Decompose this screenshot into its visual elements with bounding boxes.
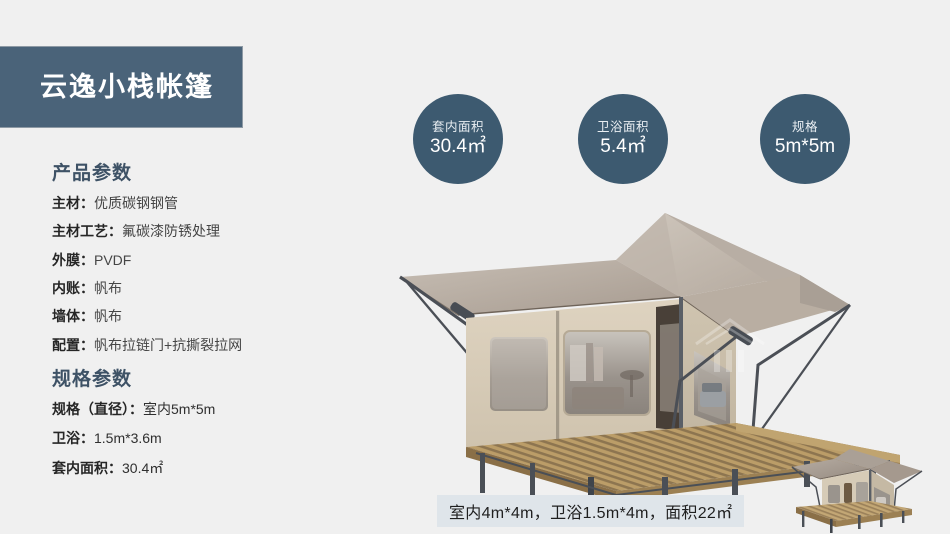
- spec-value: 帆布: [94, 308, 122, 324]
- spec-value: PVDF: [94, 252, 131, 268]
- spec-value: 室内5m*5m: [143, 401, 215, 417]
- spec-row: 套内面积：30.4㎡: [52, 461, 352, 476]
- spec-value: 优质碳钢钢管: [94, 195, 178, 211]
- spec-key: 规格（直径）：: [52, 401, 143, 417]
- caption-text: 室内4m*4m，卫浴1.5m*4m，面积22㎡: [449, 499, 732, 523]
- spec-row: 主材工艺：氟碳漆防锈处理: [52, 224, 352, 239]
- spec-value: 30.4㎡: [122, 460, 163, 476]
- spec-parameters-list: 规格（直径）：室内5m*5m 卫浴：1.5m*3.6m 套内面积：30.4㎡: [52, 402, 352, 476]
- spec-value: 1.5m*3.6m: [94, 430, 162, 446]
- title-banner: 云逸小栈帐篷: [0, 46, 243, 128]
- spec-row: 卫浴：1.5m*3.6m: [52, 431, 352, 446]
- spec-key: 主材：: [52, 195, 94, 211]
- badge-label: 套内面积: [432, 121, 484, 135]
- spec-key: 配置：: [52, 337, 94, 353]
- spec-row: 主材：优质碳钢钢管: [52, 196, 352, 211]
- tent-thumbnail: [772, 445, 950, 534]
- badge-label: 卫浴面积: [597, 121, 649, 135]
- badge-interior-area: 套内面积 30.4㎡: [413, 94, 503, 184]
- spec-value: 帆布拉链门+抗撕裂拉网: [94, 337, 242, 353]
- spec-row: 墙体：帆布: [52, 309, 352, 324]
- badge-dimensions: 规格 5m*5m: [760, 94, 850, 184]
- spec-value: 帆布: [94, 280, 122, 296]
- spec-row: 外膜：PVDF: [52, 253, 352, 268]
- product-parameters-heading: 产品参数: [52, 163, 352, 186]
- spec-key: 主材工艺：: [52, 223, 122, 239]
- spec-key: 卫浴：: [52, 430, 94, 446]
- product-parameters-list: 主材：优质碳钢钢管 主材工艺：氟碳漆防锈处理 外膜：PVDF 内账：帆布 墙体：…: [52, 196, 352, 353]
- spec-value: 氟碳漆防锈处理: [122, 223, 220, 239]
- tent-thumbnail-image: [772, 445, 950, 534]
- badge-value: 5m*5m: [775, 137, 835, 157]
- badge-value: 5.4㎡: [600, 137, 645, 157]
- badge-bathroom-area: 卫浴面积 5.4㎡: [578, 94, 668, 184]
- spec-key: 墙体：: [52, 308, 94, 324]
- spec-parameters-section: 规格参数 规格（直径）：室内5m*5m 卫浴：1.5m*3.6m 套内面积：30…: [52, 369, 352, 490]
- product-parameters-section: 产品参数 主材：优质碳钢钢管 主材工艺：氟碳漆防锈处理 外膜：PVDF 内账：帆…: [52, 163, 352, 366]
- badge-value: 30.4㎡: [430, 137, 486, 157]
- spec-row: 内账：帆布: [52, 281, 352, 296]
- spec-key: 套内面积：: [52, 460, 122, 476]
- spec-row: 规格（直径）：室内5m*5m: [52, 402, 352, 417]
- page-root: 云逸小栈帐篷 产品参数 主材：优质碳钢钢管 主材工艺：氟碳漆防锈处理 外膜：PV…: [0, 0, 950, 534]
- spec-row: 配置：帆布拉链门+抗撕裂拉网: [52, 338, 352, 353]
- badge-label: 规格: [792, 121, 818, 135]
- spec-key: 内账：: [52, 280, 94, 296]
- page-title: 云逸小栈帐篷: [28, 74, 214, 101]
- spec-key: 外膜：: [52, 252, 94, 268]
- caption-bar: 室内4m*4m，卫浴1.5m*4m，面积22㎡: [437, 495, 744, 527]
- spec-parameters-heading: 规格参数: [52, 369, 352, 392]
